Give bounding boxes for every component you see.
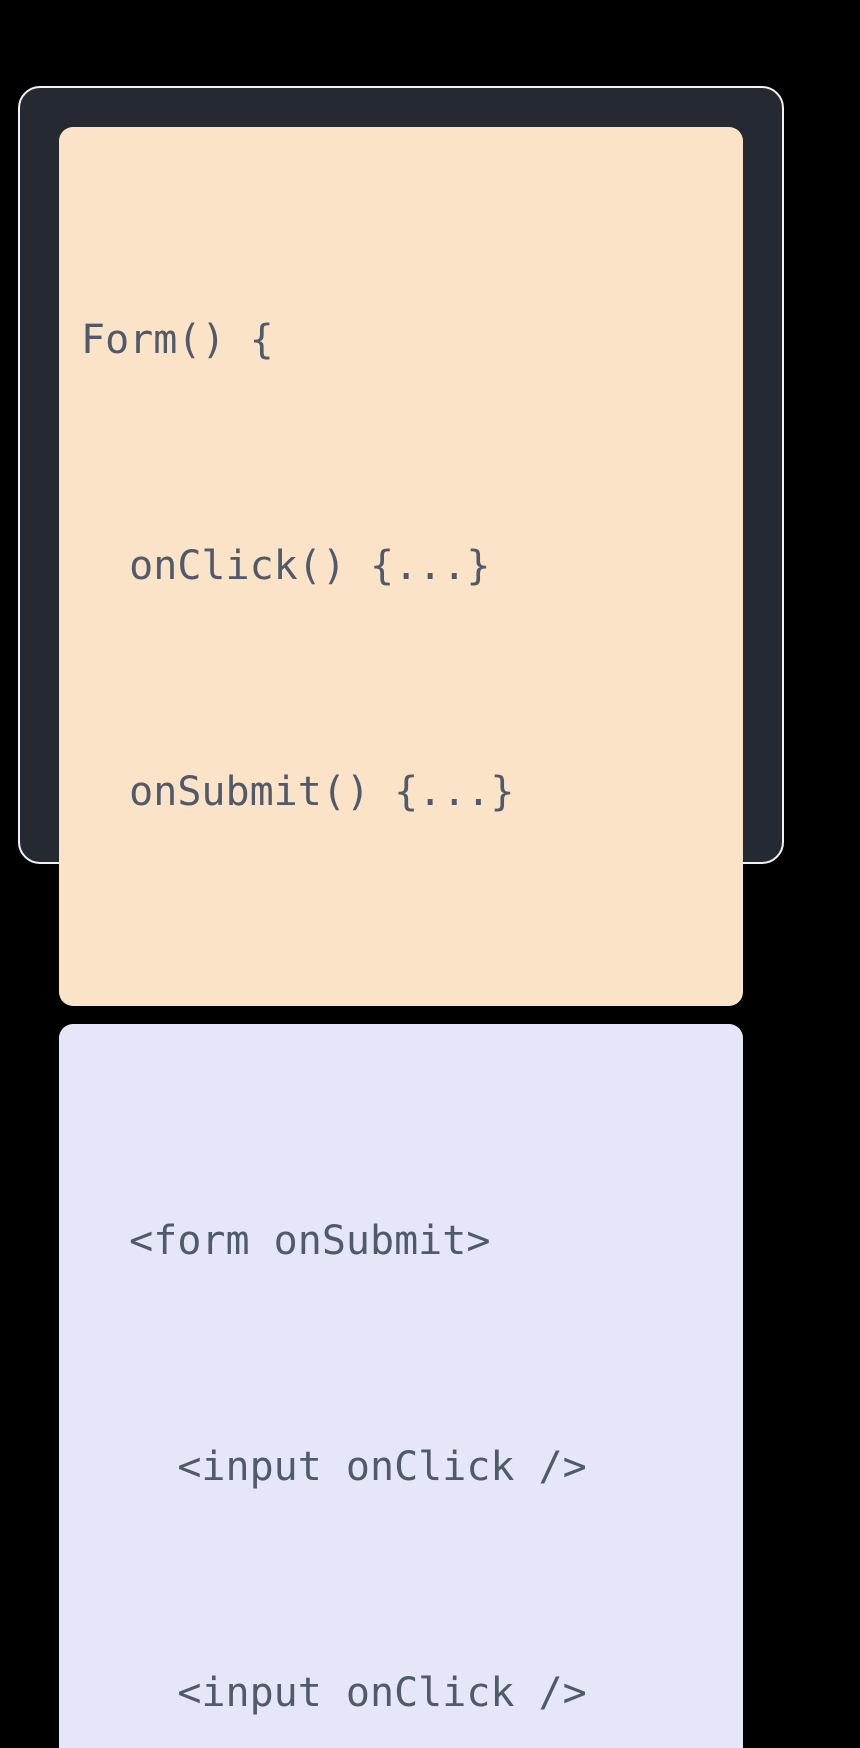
code-block-stack: Form() { onClick() {...} onSubmit() {...…	[59, 127, 743, 1748]
code-line: onClick() {...}	[81, 529, 721, 604]
component-card: Form() { onClick() {...} onSubmit() {...…	[18, 86, 784, 864]
code-line: <input onClick />	[81, 1430, 721, 1505]
diagram-canvas: Form() { onClick() {...} onSubmit() {...…	[0, 0, 860, 874]
code-line: Form() {	[81, 303, 721, 378]
code-line: <input onClick />	[81, 1656, 721, 1731]
code-line: onSubmit() {...}	[81, 755, 721, 830]
code-block-javascript-top: Form() { onClick() {...} onSubmit() {...…	[59, 127, 743, 1006]
code-line: <form onSubmit>	[81, 1204, 721, 1279]
code-block-jsx-markup: <form onSubmit> <input onClick /> <input…	[59, 1024, 743, 1748]
